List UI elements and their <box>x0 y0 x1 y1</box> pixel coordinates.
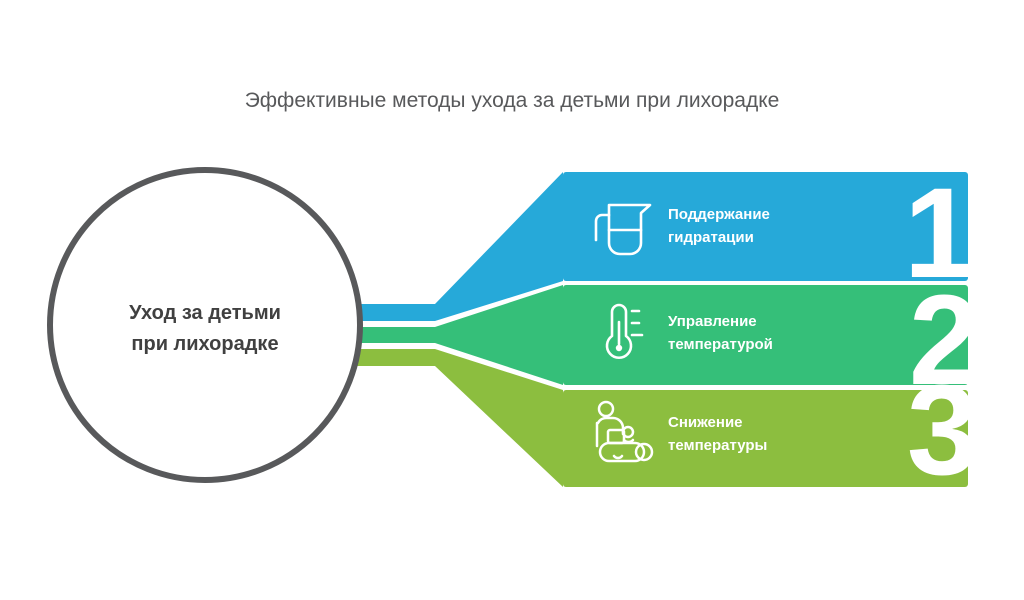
step-label-2-line2: температурой <box>668 336 773 353</box>
hub-circle-outline <box>50 170 360 480</box>
hub-label-line2: при лихорадке <box>131 333 278 355</box>
infographic-canvas: Эффективные методы ухода за детьми при л… <box>0 0 1024 600</box>
step-label-3-line2: температуры <box>668 437 767 454</box>
page-title: Эффективные методы ухода за детьми при л… <box>245 89 780 112</box>
hub-label-line1: Уход за детьми <box>129 302 281 324</box>
step-label-1-line2: гидратации <box>668 229 754 246</box>
hub-circle[interactable]: Уход за детьми при лихорадке <box>50 170 360 480</box>
step-number-3: 3 <box>907 359 978 502</box>
step-label-1-line1: Поддержание <box>668 206 770 223</box>
step-label-3-line1: Снижение <box>668 414 743 431</box>
step-label-2-line1: Управление <box>668 313 757 330</box>
